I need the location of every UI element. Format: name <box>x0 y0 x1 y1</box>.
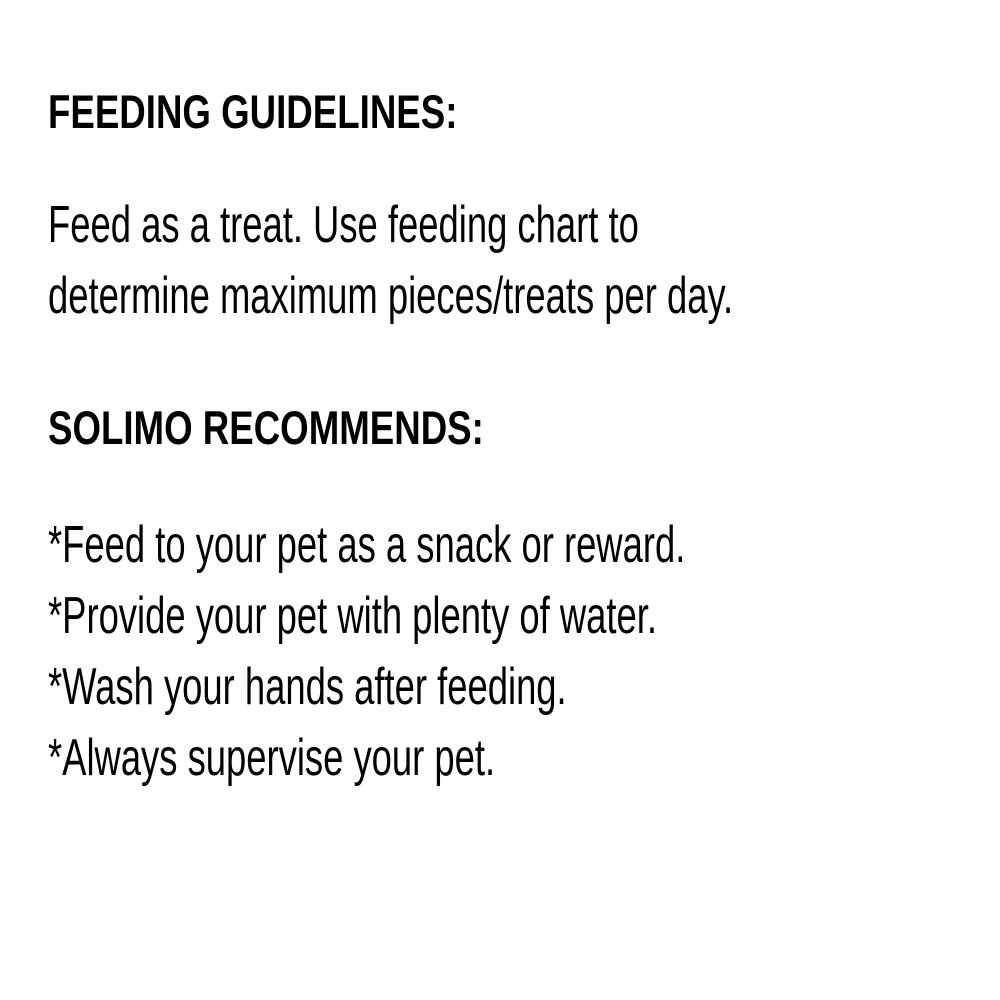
solimo-recommends-list: *Feed to your pet as a snack or reward. … <box>48 510 700 794</box>
feeding-guidelines-panel: FEEDING GUIDELINES: Feed as a treat. Use… <box>0 0 1000 1000</box>
list-item: *Provide your pet with plenty of water. <box>48 581 700 652</box>
feeding-guidelines-heading: FEEDING GUIDELINES: <box>48 86 775 138</box>
list-item: *Feed to your pet as a snack or reward. <box>48 510 700 581</box>
feeding-guidelines-body-line: Feed as a treat. Use feeding chart to <box>48 190 700 261</box>
list-item: *Wash your hands after feeding. <box>48 652 700 723</box>
spacer-body-heading <box>48 332 980 402</box>
spacer-heading-list <box>48 454 980 510</box>
spacer-heading-body <box>48 138 980 190</box>
panel-content: FEEDING GUIDELINES: Feed as a treat. Use… <box>48 86 980 794</box>
solimo-recommends-heading: SOLIMO RECOMMENDS: <box>48 402 775 454</box>
list-item: *Always supervise your pet. <box>48 723 700 794</box>
feeding-guidelines-body: Feed as a treat. Use feeding chart to de… <box>48 190 700 332</box>
feeding-guidelines-body-line: determine maximum pieces/treats per day. <box>48 261 700 332</box>
